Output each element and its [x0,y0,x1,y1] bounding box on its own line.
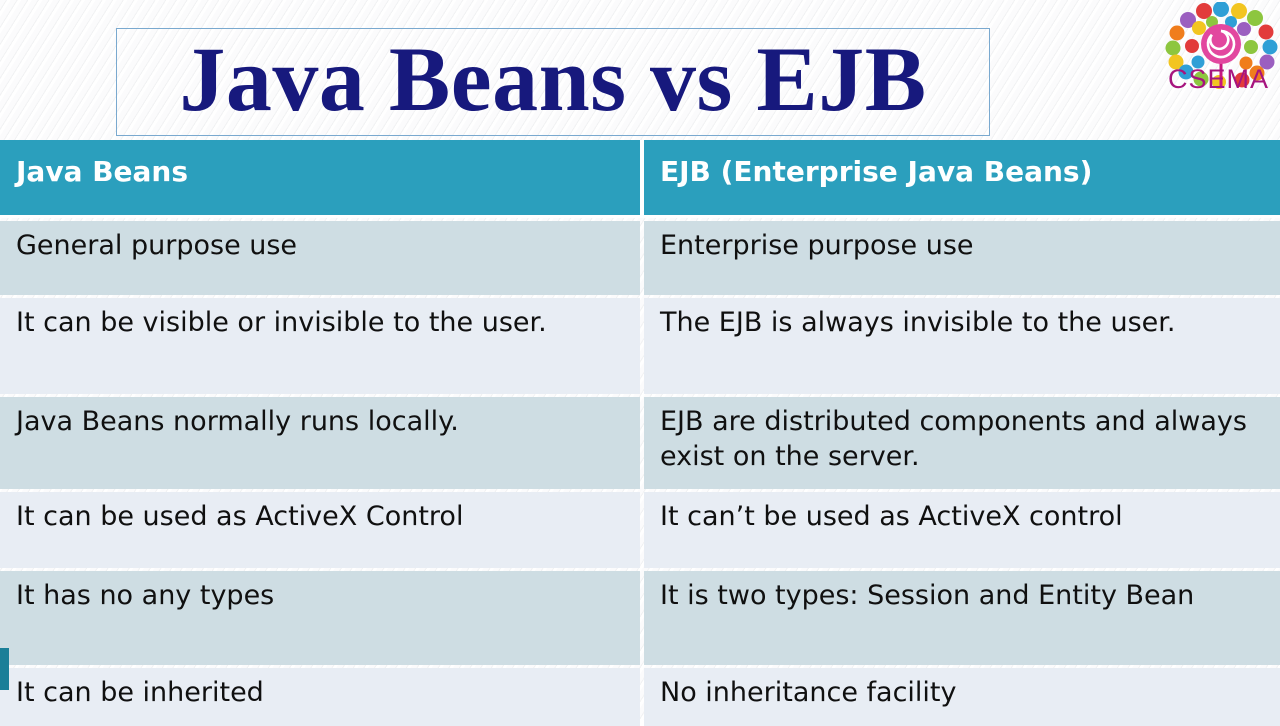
table-row: It has no any types It is two types: Ses… [0,571,1280,665]
column-header-ejb: EJB (Enterprise Java Beans) [644,140,1280,215]
cell-ejb: It is two types: Session and Entity Bean [644,571,1280,665]
table-row: General purpose use Enterprise purpose u… [0,221,1280,295]
cell-java-beans: It can be inherited [0,668,640,726]
lollipop-icon [1162,2,1280,106]
column-header-java-beans: Java Beans [0,140,640,215]
table-row: It can be visible or invisible to the us… [0,298,1280,394]
table-row: It can be used as ActiveX Control It can… [0,492,1280,568]
table-row: Java Beans normally runs locally. EJB ar… [0,397,1280,489]
cell-java-beans: Java Beans normally runs locally. [0,397,640,489]
cell-java-beans: General purpose use [0,221,640,295]
slide-title-box: Java Beans vs EJB [116,28,990,136]
page-title: Java Beans vs EJB [179,33,926,131]
cell-ejb: It can’t be used as ActiveX control [644,492,1280,568]
comparison-table: Java Beans EJB (Enterprise Java Beans) G… [0,140,1280,720]
logo-wordmark: CSEMA [1168,64,1269,95]
left-edge-accent-tab [0,648,9,690]
cell-ejb: No inheritance facility [644,668,1280,726]
cell-ejb: The EJB is always invisible to the user. [644,298,1280,394]
slide-canvas: Java Beans vs EJB [0,0,1280,720]
table-header-row: Java Beans EJB (Enterprise Java Beans) [0,140,1280,218]
cell-java-beans: It has no any types [0,571,640,665]
cell-java-beans: It can be visible or invisible to the us… [0,298,640,394]
cell-ejb: Enterprise purpose use [644,221,1280,295]
csema-logo: CSEMA [1162,2,1280,106]
cell-java-beans: It can be used as ActiveX Control [0,492,640,568]
table-row: It can be inherited No inheritance facil… [0,668,1280,726]
cell-ejb: EJB are distributed components and alway… [644,397,1280,489]
